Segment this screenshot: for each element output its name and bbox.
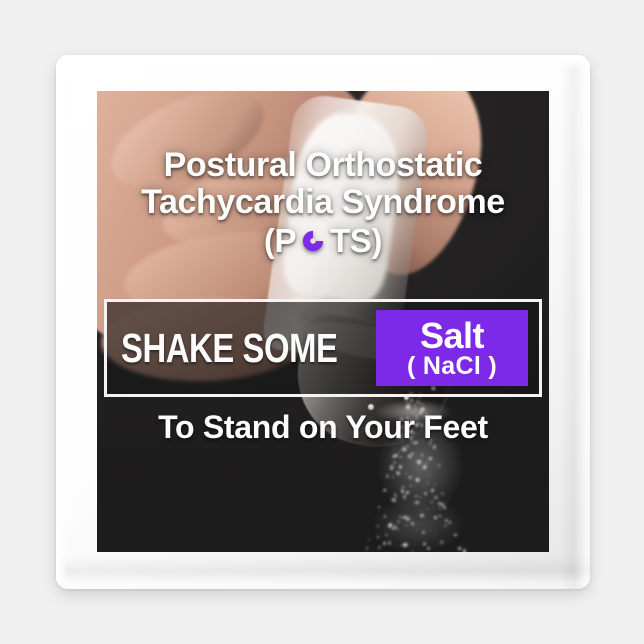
purple-spiral-icon <box>298 226 328 256</box>
shake-some-label: SHAKE SOME <box>121 328 338 369</box>
salt-formula: ( NaCl ) <box>407 353 497 380</box>
product-napkin[interactable]: Postural Orthostatic Tachycardia Syndrom… <box>56 55 590 589</box>
salt-word: Salt <box>420 318 484 353</box>
printed-artwork: Postural Orthostatic Tachycardia Syndrom… <box>97 91 549 552</box>
title-line-2: Tachycardia Syndrome <box>97 184 549 221</box>
screenshot-canvas: Postural Orthostatic Tachycardia Syndrom… <box>0 0 644 644</box>
title-line-1: Postural Orthostatic <box>97 147 549 184</box>
acronym-pots: (P TS) <box>97 223 549 259</box>
acronym-open-paren: (P <box>264 223 296 259</box>
artwork-text-overlay: Postural Orthostatic Tachycardia Syndrom… <box>97 91 549 552</box>
shake-some-salt-banner: SHAKE SOME Salt ( NaCl ) <box>104 299 542 397</box>
acronym-close: TS) <box>330 223 382 259</box>
page-title: Postural Orthostatic Tachycardia Syndrom… <box>97 147 549 259</box>
tagline: To Stand on Your Feet <box>97 409 549 446</box>
salt-highlight-box: Salt ( NaCl ) <box>376 310 528 386</box>
